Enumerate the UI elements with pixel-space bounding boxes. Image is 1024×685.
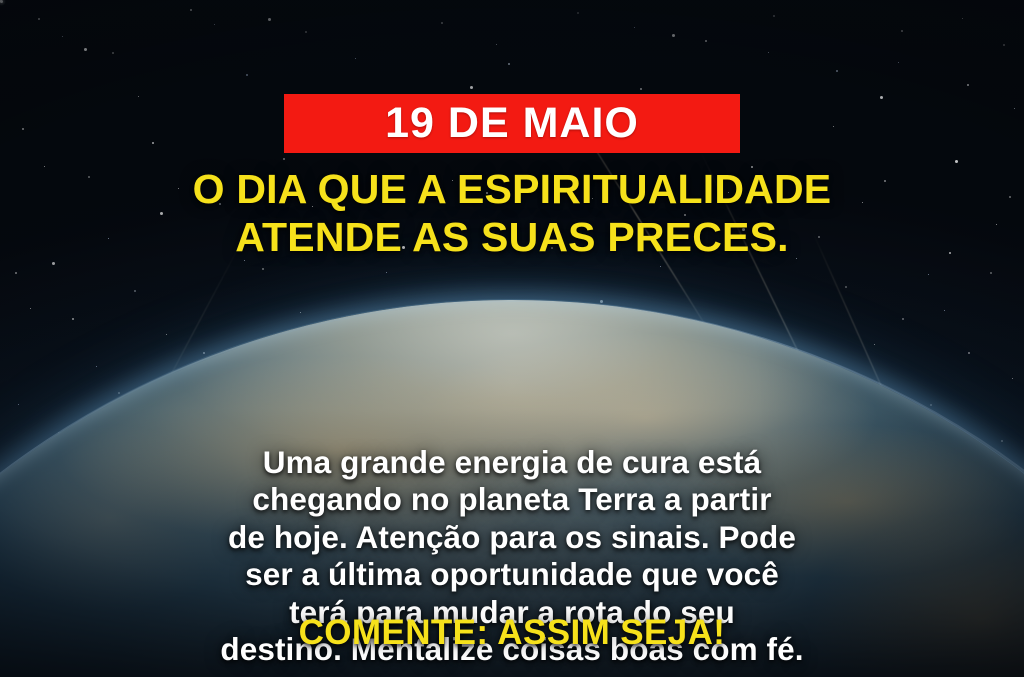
headline: O DIA QUE A ESPIRITUALIDADE ATENDE AS SU… (0, 166, 1024, 261)
bottom-border-strip (0, 677, 1024, 681)
date-banner: 19 DE MAIO (284, 94, 740, 153)
call-to-action: COMENTE: ASSIM SEJA! (0, 615, 1024, 650)
headline-line-2: ATENDE AS SUAS PRECES. (0, 214, 1024, 262)
date-banner-label: 19 DE MAIO (385, 102, 639, 145)
body-line-1: Uma grande energia de cura está (50, 444, 974, 481)
poster-content: 19 DE MAIO O DIA QUE A ESPIRITUALIDADE A… (0, 0, 1024, 681)
body-line-2: chegando no planeta Terra a partir (50, 481, 974, 518)
headline-line-1: O DIA QUE A ESPIRITUALIDADE (0, 166, 1024, 214)
body-line-4: ser a última oportunidade que você (50, 556, 974, 593)
body-line-3: de hoje. Atenção para os sinais. Pode (50, 519, 974, 556)
poster-canvas: 19 DE MAIO O DIA QUE A ESPIRITUALIDADE A… (0, 0, 1024, 685)
